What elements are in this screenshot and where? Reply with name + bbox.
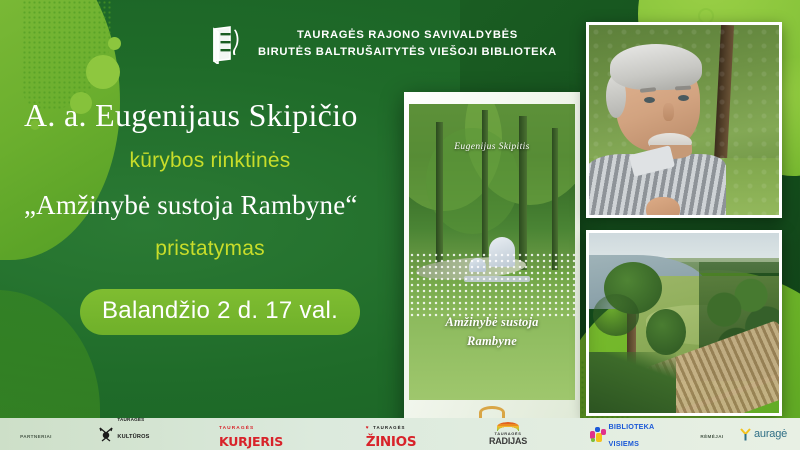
logo-taurages-radijas[interactable]: TAURAGĖS RADIJAS: [456, 422, 560, 446]
decorative-circle-2: [86, 55, 120, 89]
book-cover-artwork: Eugenijus Skipitis Amžinybė sustoja Ramb…: [409, 104, 575, 400]
portrait-eyebrow-right: [674, 85, 690, 90]
book-title: Amžinybė sustoja Rambyne: [409, 313, 575, 349]
kc-line2: KULTŪROS: [117, 434, 149, 440]
event-poster: TAURAGĖS RAJONO SAVIVALDYBĖS BIRUTĖS BAL…: [0, 0, 800, 450]
biblioteka-visiems-people-icon: [590, 427, 606, 442]
zinios-line1: TAURAGĖS: [373, 425, 405, 430]
partners-label-wrap: Partneriai: [0, 425, 72, 443]
landscape-pine-mid: [646, 309, 686, 355]
zinios-line2: ŽINIOS: [366, 434, 417, 450]
logo-taurages-kulturos-centras[interactable]: TAURAGĖS KULTŪROS CENTRAS: [72, 409, 176, 450]
decorative-circle-1: [108, 37, 121, 50]
taurage-tulip-icon: [740, 428, 751, 441]
landscape-pine-crown-lower: [593, 294, 639, 336]
bv-line1: BIBLIOTEKA: [609, 422, 655, 431]
zinios-wordmark: ♥ TAURAGĖS ŽINIOS: [366, 417, 417, 450]
book-quill-icon: [210, 24, 242, 64]
kurjeris-wordmark: TAURAGĖS KURJERIS: [219, 417, 283, 450]
logo-biblioteka-visiems[interactable]: BIBLIOTEKA VISIEMS: [560, 417, 684, 450]
logo-taurages-zinios[interactable]: ♥ TAURAGĖS ŽINIOS: [326, 417, 456, 450]
heart-icon: ♥: [366, 425, 369, 431]
announcement-block: A. a. Eugenijaus Skipičio kūrybos rinkti…: [0, 98, 420, 335]
cover-flower-field: [409, 252, 575, 317]
rambynas-landscape-photo: [586, 230, 782, 416]
rainbow-arc-icon: [497, 422, 519, 431]
partners-label: Partneriai: [20, 434, 52, 439]
kc-line1: TAURAGĖS: [117, 417, 144, 422]
radijas-line2: RADIJAS: [489, 436, 527, 446]
library-name: TAURAGĖS RAJONO SAVIVALDYBĖS BIRUTĖS BAL…: [258, 27, 557, 62]
announcement-line-subtitle: kūrybos rinktinės: [24, 149, 396, 173]
kurjeris-line1: TAURAGĖS: [219, 426, 254, 431]
book-cover: Eugenijus Skipitis Amžinybė sustoja Ramb…: [404, 92, 580, 434]
taurage-wordmark: auragė: [754, 428, 787, 440]
portrait-hand: [646, 197, 680, 218]
sponsors-label-wrap: Rėmėjai: [684, 425, 740, 443]
landscape-foreground-shadow: [589, 352, 676, 413]
kulturos-centras-wordmark: TAURAGĖS KULTŪROS CENTRAS: [117, 409, 149, 450]
footer-sponsor-bar: Partneriai TAURAGĖS KULTŪROS: [0, 418, 800, 450]
kulturos-centras-mark-icon: [98, 426, 114, 442]
announcement-line-author: A. a. Eugenijaus Skipičio: [24, 98, 420, 133]
announcement-line-event-type: pristatymas: [24, 237, 396, 261]
library-header: TAURAGĖS RAJONO SAVIVALDYBĖS BIRUTĖS BAL…: [210, 16, 590, 72]
logo-taurages-kurjeris[interactable]: TAURAGĖS KURJERIS: [176, 417, 326, 450]
cover-trunk-2: [482, 110, 488, 258]
book-title-line2: Rambyne: [467, 334, 517, 348]
library-name-line1: TAURAGĖS RAJONO SAVIVALDYBĖS: [297, 29, 518, 41]
library-name-line2: BIRUTĖS BALTRUŠAITYTĖS VIEŠOJI BIBLIOTEK…: [258, 46, 557, 58]
biblioteka-visiems-wordmark: BIBLIOTEKA VISIEMS: [609, 417, 655, 450]
portrait-nose: [663, 103, 674, 121]
announcement-line-book-title: „Amžinybė sustoja Rambyne“: [24, 190, 420, 221]
portrait-hair: [610, 44, 702, 90]
book-author-name: Eugenijus Skipitis: [409, 142, 575, 152]
sponsors-label: Rėmėjai: [700, 434, 723, 439]
bv-line2: VISIEMS: [609, 439, 640, 448]
book-title-line1: Amžinybė sustoja: [445, 315, 538, 329]
author-portrait-photo: [586, 22, 782, 218]
logo-taurage[interactable]: auragė: [740, 428, 787, 441]
kurjeris-line2: KURJERIS: [219, 434, 283, 449]
event-date-badge: Balandžio 2 d. 17 val.: [80, 289, 360, 335]
